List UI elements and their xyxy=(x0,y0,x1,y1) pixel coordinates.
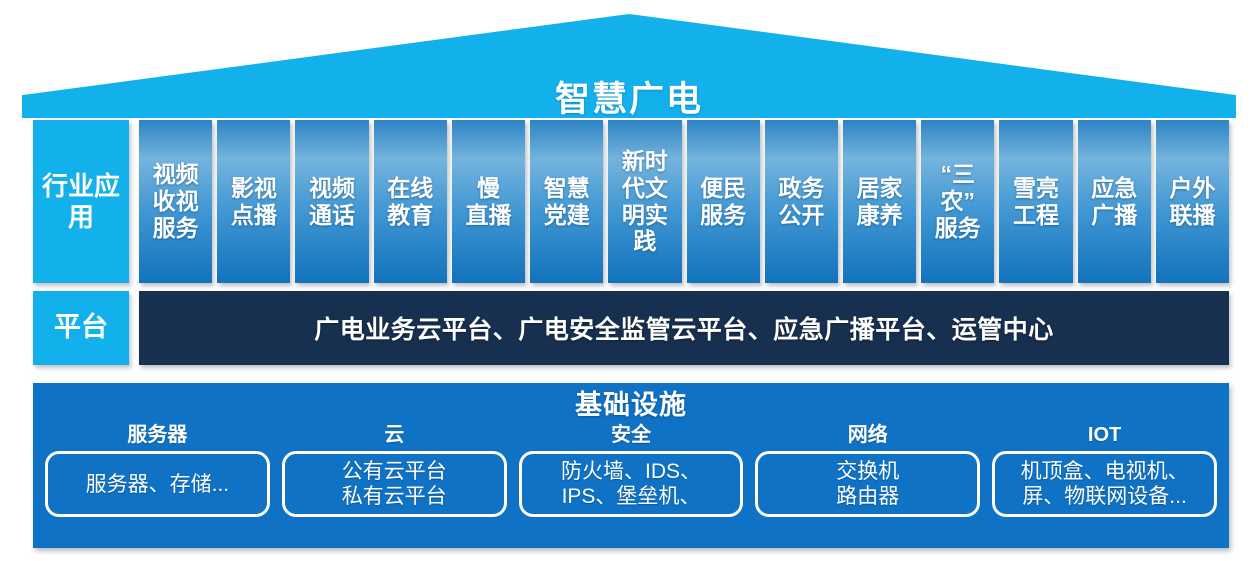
app-card-new-era-civilization-practice[interactable]: 新时 代文 明实 践 xyxy=(608,120,681,283)
roof-banner: 智慧广电 xyxy=(22,14,1236,118)
industry-application-label-text: 行业应用 xyxy=(33,171,129,232)
app-card-line: 在线 xyxy=(387,175,433,202)
app-card-line: 户外 xyxy=(1169,175,1215,202)
app-card-line: 政务 xyxy=(778,175,824,202)
app-card-line: 视频 xyxy=(309,175,355,202)
infrastructure-column-header: 安全 xyxy=(519,423,744,447)
app-card-line: 点播 xyxy=(231,202,277,229)
app-card-line: 工程 xyxy=(1013,202,1059,229)
app-card-line: 代文 xyxy=(622,175,668,202)
platform-row: 平台 广电业务云平台、广电安全监管云平台、应急广播平台、运管中心 xyxy=(33,291,1229,365)
infrastructure-column-security: 安全 防火墙、IDS、 IPS、堡垒机、 xyxy=(519,423,744,517)
infrastructure-box-line: 防火墙、IDS、 xyxy=(561,459,701,485)
infrastructure-title: 基础设施 xyxy=(45,389,1217,421)
infrastructure-column-server: 服务器 服务器、存储... xyxy=(45,423,270,517)
infrastructure-box-line: 私有云平台 xyxy=(342,484,447,510)
infrastructure-box-iot[interactable]: 机顶盒、电视机、 屏、物联网设备... xyxy=(992,451,1217,517)
infrastructure-column-list: 服务器 服务器、存储... 云 公有云平台 私有云平台 安全 xyxy=(45,423,1217,517)
infrastructure-box-line: IPS、堡垒机、 xyxy=(561,484,701,510)
app-card-line: 通话 xyxy=(309,202,355,229)
app-card-line: 服务 xyxy=(153,215,199,242)
app-card-line: 明实 xyxy=(622,202,668,229)
infrastructure-box-network[interactable]: 交换机 路由器 xyxy=(755,451,980,517)
diagram-title: 智慧广电 xyxy=(22,71,1236,122)
app-card-government-affairs-disclosure[interactable]: 政务 公开 xyxy=(765,120,838,283)
infrastructure-box-server[interactable]: 服务器、存储... xyxy=(45,451,270,517)
platform-label: 平台 xyxy=(33,291,129,365)
app-card-line: 践 xyxy=(622,228,668,255)
app-card-line: “三 xyxy=(935,161,981,188)
smart-broadcasting-architecture-diagram: 智慧广电 行业应用 视频 收视 服务 影视 点播 视频 xyxy=(0,0,1258,561)
infrastructure-column-header: 服务器 xyxy=(45,423,270,447)
app-card-outdoor-simulcast[interactable]: 户外 联播 xyxy=(1156,120,1229,283)
app-card-video-on-demand[interactable]: 影视 点播 xyxy=(217,120,290,283)
infrastructure-box-line: 屏、物联网设备... xyxy=(1021,484,1189,510)
app-card-video-rating-service[interactable]: 视频 收视 服务 xyxy=(139,120,212,283)
app-card-line: 服务 xyxy=(700,202,746,229)
app-card-line: 雪亮 xyxy=(1013,175,1059,202)
infrastructure-box-line: 机顶盒、电视机、 xyxy=(1021,459,1189,485)
infrastructure-column-cloud: 云 公有云平台 私有云平台 xyxy=(282,423,507,517)
app-card-line: 智慧 xyxy=(544,175,590,202)
infrastructure-column-iot: IOT 机顶盒、电视机、 屏、物联网设备... xyxy=(992,423,1217,517)
app-card-line: 慢 xyxy=(465,175,511,202)
app-card-online-education[interactable]: 在线 教育 xyxy=(374,120,447,283)
infrastructure-column-header: 网络 xyxy=(755,423,980,447)
platform-label-text: 平台 xyxy=(54,312,108,344)
app-card-video-call[interactable]: 视频 通话 xyxy=(295,120,368,283)
app-card-snow-bright-project[interactable]: 雪亮 工程 xyxy=(999,120,1072,283)
app-card-three-rural-service[interactable]: “三 农” 服务 xyxy=(921,120,994,283)
infrastructure-box-line: 交换机 xyxy=(836,459,899,485)
app-card-line: 居家 xyxy=(857,175,903,202)
infrastructure-section: 基础设施 服务器 服务器、存储... 云 公有云平台 私有云平台 xyxy=(33,383,1229,548)
app-card-line: 公开 xyxy=(778,202,824,229)
app-card-line: 视频 xyxy=(153,161,199,188)
infrastructure-column-network: 网络 交换机 路由器 xyxy=(755,423,980,517)
industry-application-label: 行业应用 xyxy=(33,120,129,283)
platform-bar[interactable]: 广电业务云平台、广电安全监管云平台、应急广播平台、运管中心 xyxy=(139,291,1229,365)
app-card-line: 联播 xyxy=(1169,202,1215,229)
platform-bar-text: 广电业务云平台、广电安全监管云平台、应急广播平台、运管中心 xyxy=(314,310,1054,346)
app-card-line: 广播 xyxy=(1091,202,1137,229)
app-card-line: 便民 xyxy=(700,175,746,202)
industry-application-row: 行业应用 视频 收视 服务 影视 点播 视频 通话 xyxy=(33,120,1229,283)
infrastructure-box-security[interactable]: 防火墙、IDS、 IPS、堡垒机、 xyxy=(519,451,744,517)
app-card-slow-live[interactable]: 慢 直播 xyxy=(452,120,525,283)
app-card-line: 新时 xyxy=(622,148,668,175)
app-card-line: 党建 xyxy=(544,202,590,229)
app-card-line: 农” xyxy=(935,188,981,215)
app-card-line: 应急 xyxy=(1091,175,1137,202)
infrastructure-box-line: 路由器 xyxy=(836,484,899,510)
infrastructure-column-header: IOT xyxy=(992,423,1217,447)
app-card-line: 影视 xyxy=(231,175,277,202)
infrastructure-box-cloud[interactable]: 公有云平台 私有云平台 xyxy=(282,451,507,517)
app-card-emergency-broadcast[interactable]: 应急 广播 xyxy=(1078,120,1151,283)
app-card-line: 康养 xyxy=(857,202,903,229)
app-card-home-health-care[interactable]: 居家 康养 xyxy=(843,120,916,283)
infrastructure-box-line: 公有云平台 xyxy=(342,459,447,485)
app-card-line: 收视 xyxy=(153,188,199,215)
app-card-line: 直播 xyxy=(465,202,511,229)
infrastructure-box-line: 服务器、存储... xyxy=(86,472,230,498)
app-card-line: 服务 xyxy=(935,215,981,242)
app-card-smart-party-building[interactable]: 智慧 党建 xyxy=(530,120,603,283)
application-card-list: 视频 收视 服务 影视 点播 视频 通话 在线 xyxy=(139,120,1229,283)
app-card-line: 教育 xyxy=(387,202,433,229)
infrastructure-column-header: 云 xyxy=(282,423,507,447)
app-card-convenience-service[interactable]: 便民 服务 xyxy=(687,120,760,283)
